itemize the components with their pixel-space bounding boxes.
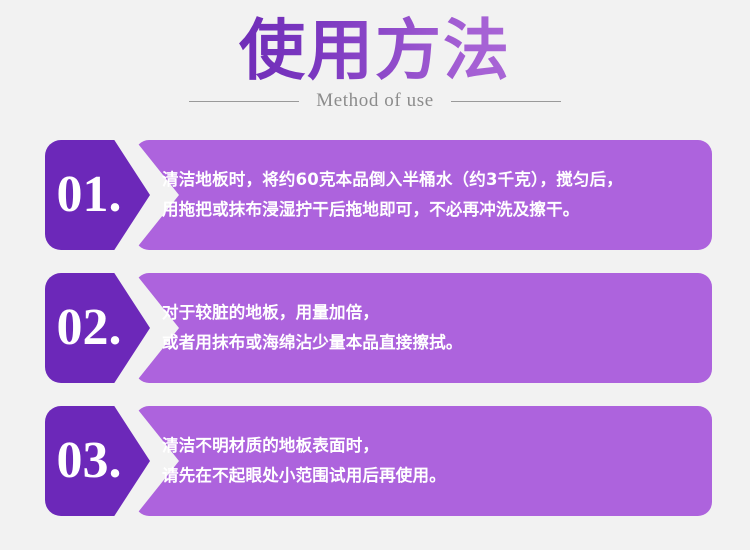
page-subtitle: Method of use [316,90,434,112]
step-text-line: 用拖把或抹布浸湿拧干后拖地即可，不必再冲洗及擦干。 [162,195,722,225]
step-badge-inner-3: 03. [45,406,121,516]
subtitle-row: Method of use [0,90,750,112]
divider-line-right [451,101,561,102]
step-card-3: 03. 清洁不明材质的地板表面时， 请先在不起眼处小范围试用后再使用。 [45,406,712,516]
page-header: 使用方法 Method of use [0,0,750,125]
step-card-2: 02. 对于较脏的地板，用量加倍， 或者用抹布或海绵沾少量本品直接擦拭。 [45,273,712,383]
usage-instructions-page: 使用方法 Method of use 01. 清洁地板时，将约60克本品倒入半桶… [0,0,750,550]
page-title: 使用方法 [0,14,750,90]
step-text-line: 清洁不明材质的地板表面时， [162,431,722,461]
step-number-3: 03. [45,435,122,487]
step-text-3: 清洁不明材质的地板表面时， 请先在不起眼处小范围试用后再使用。 [162,406,722,516]
divider-line-left [189,101,299,102]
step-number-2: 02. [45,302,122,354]
step-number-1: 01. [45,169,122,221]
step-text-2: 对于较脏的地板，用量加倍， 或者用抹布或海绵沾少量本品直接擦拭。 [162,273,722,383]
step-text-1: 清洁地板时，将约60克本品倒入半桶水（约3千克），搅匀后， 用拖把或抹布浸湿拧干… [162,140,722,250]
step-text-line: 或者用抹布或海绵沾少量本品直接擦拭。 [162,328,722,358]
step-text-line: 对于较脏的地板，用量加倍， [162,298,722,328]
step-card-1: 01. 清洁地板时，将约60克本品倒入半桶水（约3千克），搅匀后， 用拖把或抹布… [45,140,712,250]
step-badge-inner-1: 01. [45,140,121,250]
step-text-line: 清洁地板时，将约60克本品倒入半桶水（约3千克），搅匀后， [162,165,722,195]
step-text-line: 请先在不起眼处小范围试用后再使用。 [162,461,722,491]
step-badge-inner-2: 02. [45,273,121,383]
